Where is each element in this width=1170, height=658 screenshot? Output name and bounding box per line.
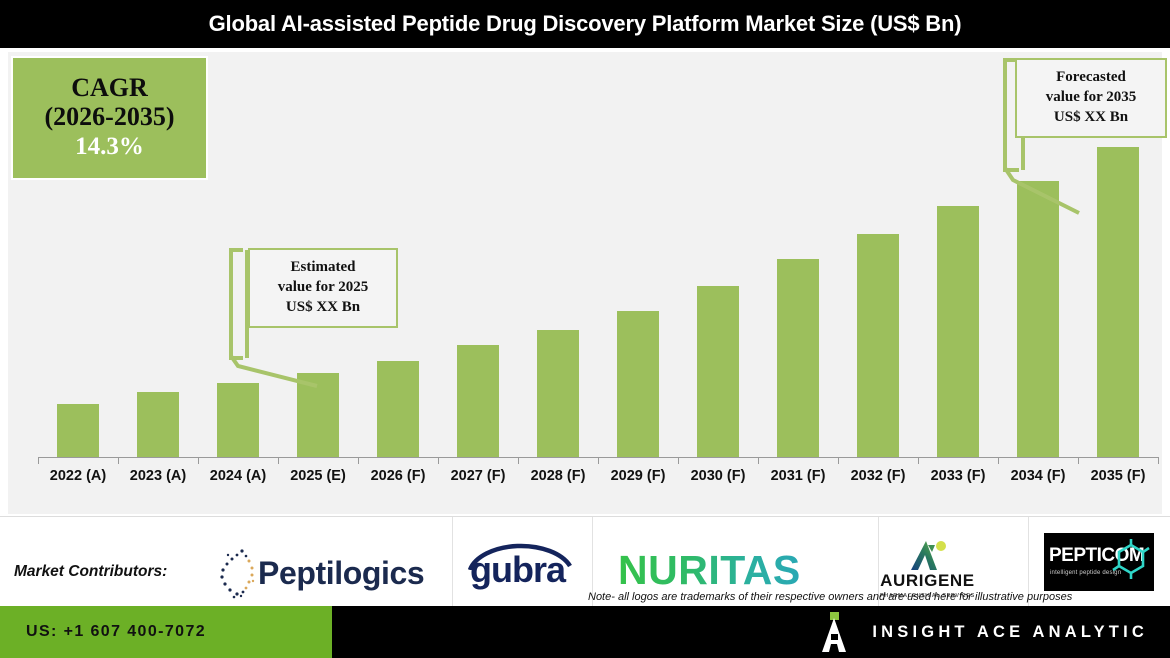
brand-lockup: INSIGHT ACE ANALYTIC (820, 606, 1148, 658)
chart-panel: 2022 (A)2023 (A)2024 (A)2025 (E)2026 (F)… (8, 52, 1162, 514)
x-axis-label: 2022 (A) (38, 466, 118, 486)
x-axis-tick (38, 457, 39, 464)
x-axis-label: 2024 (A) (198, 466, 278, 486)
bar-2030F (697, 286, 739, 457)
pepticom-hexagon-icon (1110, 539, 1152, 581)
peptilogics-wordmark: Peptilogics (258, 555, 424, 592)
x-axis-tick (438, 457, 439, 464)
market-contributors-strip: Market Contributors: Peptilogics (0, 516, 1170, 607)
bar-2024A (217, 383, 259, 457)
x-axis-label: 2030 (F) (678, 466, 758, 486)
x-axis-label: 2034 (F) (998, 466, 1078, 486)
bar-2022A (57, 404, 99, 457)
bar-2035F (1097, 147, 1139, 457)
logo-pepticom: PEPTICOM intelligent peptide design (1044, 533, 1154, 591)
estimated-line-3: US$ XX Bn (286, 298, 360, 318)
bar-2029F (617, 311, 659, 457)
x-axis-tick (998, 457, 999, 464)
x-axis-label: 2027 (F) (438, 466, 518, 486)
forecasted-line-3: US$ XX Bn (1054, 108, 1128, 128)
cagr-label: CAGR (71, 74, 148, 101)
x-axis-tick (1158, 457, 1159, 464)
aurigene-mark-icon (904, 539, 950, 571)
x-axis-label: 2023 (A) (118, 466, 198, 486)
bar-2026F (377, 361, 419, 457)
cagr-box: CAGR (2026-2035) 14.3% (11, 56, 208, 180)
bar-2034F (1017, 181, 1059, 457)
aurigene-wordmark: AURIGENE (880, 571, 975, 591)
x-axis-label: 2025 (E) (278, 466, 358, 486)
nuritas-wordmark: NURITAS (618, 547, 801, 594)
footer-bar: US: +1 607 400-7072 INSIGHT ACE ANALYTIC (0, 606, 1170, 658)
x-axis-tick (1078, 457, 1079, 464)
x-axis-tick (118, 457, 119, 464)
bar-2023A (137, 392, 179, 457)
x-axis-tick (518, 457, 519, 464)
bar-2031F (777, 259, 819, 457)
title-bar: Global AI-assisted Peptide Drug Discover… (0, 0, 1170, 48)
infographic-root: Global AI-assisted Peptide Drug Discover… (0, 0, 1170, 658)
market-contributors-label: Market Contributors: (14, 563, 167, 581)
x-axis-label: 2029 (F) (598, 466, 678, 486)
bar-2033F (937, 206, 979, 457)
cagr-value: 14.3% (75, 132, 144, 162)
x-axis-label: 2033 (F) (918, 466, 998, 486)
x-axis-tick (918, 457, 919, 464)
gubra-arc-icon (468, 540, 572, 570)
x-axis-tick (358, 457, 359, 464)
brand-name: INSIGHT ACE ANALYTIC (872, 623, 1148, 642)
bar-2028F (537, 330, 579, 457)
estimated-line-1: Estimated (291, 258, 356, 278)
x-axis-label: 2026 (F) (358, 466, 438, 486)
bar-2025E (297, 373, 339, 457)
logo-nuritas: NURITAS (618, 547, 801, 594)
estimated-value-callout: Estimated value for 2025 US$ XX Bn (248, 248, 398, 328)
x-axis-tick (278, 457, 279, 464)
cagr-period: (2026-2035) (45, 102, 175, 132)
logo-aurigene: AURIGENE PHARMACEUTICAL SERVICES (880, 539, 975, 599)
estimated-line-2: value for 2025 (278, 278, 369, 298)
logo-gubra: gubra (470, 549, 565, 591)
pepticom-logo-box: PEPTICOM intelligent peptide design (1044, 533, 1154, 591)
x-axis-tick (758, 457, 759, 464)
forecasted-line-1: Forecasted (1056, 68, 1126, 88)
peptilogics-mark-icon (212, 547, 258, 599)
logo-disclaimer: Note- all logos are trademarks of their … (588, 591, 1072, 603)
contact-phone[interactable]: US: +1 607 400-7072 (26, 606, 206, 658)
logo-divider (452, 517, 453, 607)
x-axis-tick (838, 457, 839, 464)
x-axis-tick (598, 457, 599, 464)
bar-2027F (457, 345, 499, 457)
x-axis-label: 2028 (F) (518, 466, 598, 486)
bar-2032F (857, 234, 899, 457)
x-axis-tick (198, 457, 199, 464)
x-axis-label: 2035 (F) (1078, 466, 1158, 486)
insight-ace-a-logo-icon (820, 612, 850, 652)
forecasted-value-callout: Forecasted value for 2035 US$ XX Bn (1015, 58, 1167, 138)
forecasted-line-2: value for 2035 (1046, 88, 1137, 108)
logo-peptilogics: Peptilogics (212, 547, 424, 599)
x-axis-label: 2031 (F) (758, 466, 838, 486)
x-axis-tick (678, 457, 679, 464)
x-axis-label: 2032 (F) (838, 466, 918, 486)
page-title: Global AI-assisted Peptide Drug Discover… (0, 0, 1170, 48)
